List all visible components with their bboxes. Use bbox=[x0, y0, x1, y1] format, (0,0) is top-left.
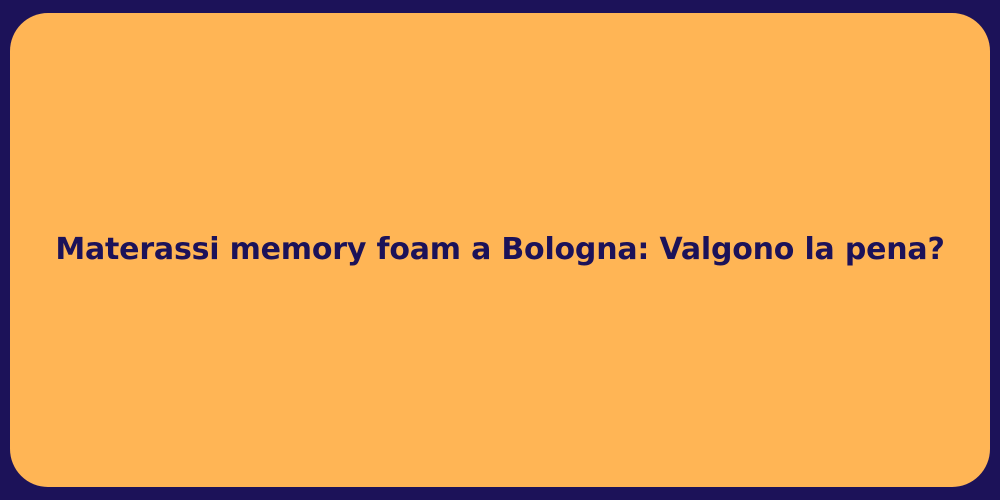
card-title: Materassi memory foam a Bologna: Valgono… bbox=[10, 231, 990, 269]
page-background: Materassi memory foam a Bologna: Valgono… bbox=[0, 0, 1000, 500]
content-card: Materassi memory foam a Bologna: Valgono… bbox=[10, 13, 990, 487]
